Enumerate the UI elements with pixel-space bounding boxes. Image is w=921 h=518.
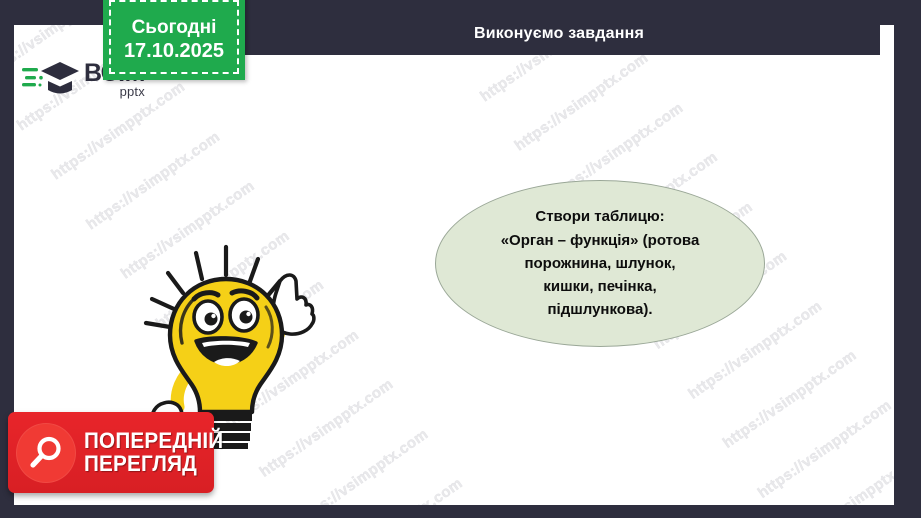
preview-badge-line-1: ПОПЕРЕДНІЙ <box>84 430 223 453</box>
preview-badge-labels: ПОПЕРЕДНІЙ ПЕРЕГЛЯД <box>84 430 232 476</box>
task-line-4: кишки, печінка, <box>501 275 700 298</box>
date-badge-content: Сьогодні 17.10.2025 <box>103 0 245 80</box>
task-callout-oval: Створи таблицю: «Орган – функція» (ротов… <box>435 180 765 347</box>
page-title: Виконуємо завдання <box>474 25 644 43</box>
preview-badge-line-2: ПЕРЕГЛЯД <box>84 453 223 476</box>
speed-lines-icon <box>22 68 43 87</box>
preview-badge-icon-circle <box>16 423 76 483</box>
watermark-text: https://vsimpptx.com <box>313 466 479 505</box>
watermark-text: https://vsimpptx.com <box>70 119 236 242</box>
task-line-2: «Орган – функція» (ротова <box>501 229 700 252</box>
frame-bottom-band <box>0 505 921 518</box>
preview-badge[interactable]: ПОПЕРЕДНІЙ ПЕРЕГЛЯД <box>8 412 214 493</box>
watermark-text: https://vsimpptx.com <box>707 338 873 461</box>
watermark-text: https://vsimpptx.com <box>776 437 894 505</box>
magnifier-icon <box>28 435 64 471</box>
watermark-text: https://vsimpptx.com <box>14 494 16 505</box>
slide-frame: https://vsimpptx.com https://vsimpptx.co… <box>0 0 921 518</box>
watermark-text: https://vsimpptx.com <box>741 387 894 505</box>
task-line-3: порожнина, шлунок, <box>501 252 700 275</box>
watermark-text: https://vsimpptx.com <box>498 40 664 163</box>
frame-right-band <box>894 0 921 518</box>
brand-subtitle: pptx <box>84 86 145 98</box>
date-badge: Сьогодні 17.10.2025 <box>103 0 245 80</box>
task-line-5: підшлункова). <box>501 298 700 321</box>
task-line-1: Створи таблицю: <box>501 205 700 228</box>
graduation-cap-icon <box>22 60 80 100</box>
task-callout-text: Створи таблицю: «Орган – функція» (ротов… <box>479 205 722 321</box>
date-badge-value: 17.10.2025 <box>124 39 224 64</box>
date-badge-label: Сьогодні <box>132 16 217 40</box>
